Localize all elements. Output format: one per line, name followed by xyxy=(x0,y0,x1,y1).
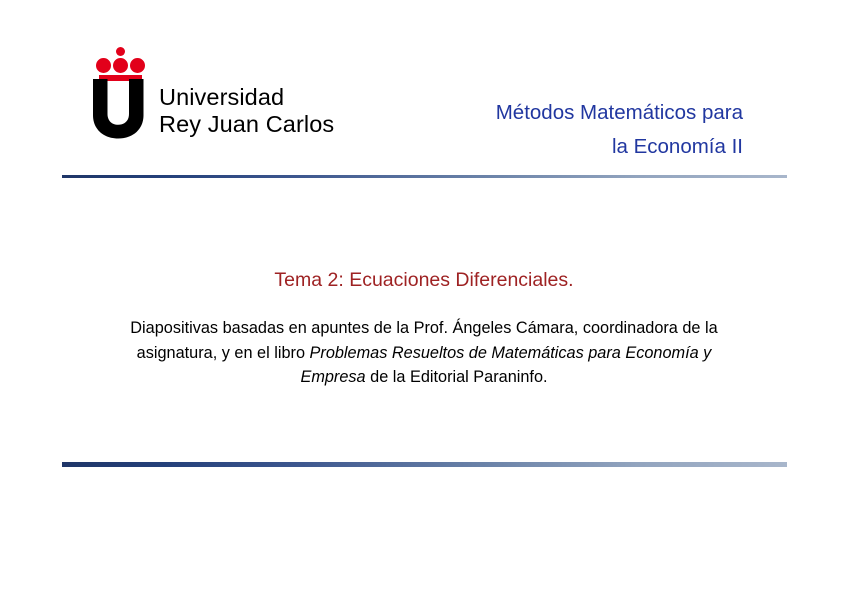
crown-dot-left-icon xyxy=(96,58,111,73)
crown-dot-center-icon xyxy=(113,58,128,73)
course-title-line-2: la Economía II xyxy=(323,130,743,164)
credits-text-after-book: de la Editorial Paraninfo. xyxy=(366,368,548,386)
header-divider-rule xyxy=(62,175,787,178)
slide-header: Universidad Rey Juan Carlos Métodos Mate… xyxy=(0,0,848,176)
crown-top-dot-icon xyxy=(116,47,125,56)
course-title-line-1: Métodos Matemáticos para xyxy=(323,96,743,130)
footer-divider-rule xyxy=(62,462,787,467)
crown-icon xyxy=(95,46,151,82)
logo-letter-u-icon xyxy=(93,79,151,139)
course-title: Métodos Matemáticos para la Economía II xyxy=(323,96,743,164)
credits-paragraph: Diapositivas basadas en apuntes de la Pr… xyxy=(112,316,736,390)
slide-canvas: Universidad Rey Juan Carlos Métodos Mate… xyxy=(0,0,848,599)
crown-dot-right-icon xyxy=(130,58,145,73)
topic-heading: Tema 2: Ecuaciones Diferenciales. xyxy=(0,267,848,293)
urjc-crown-u-icon xyxy=(93,46,155,142)
